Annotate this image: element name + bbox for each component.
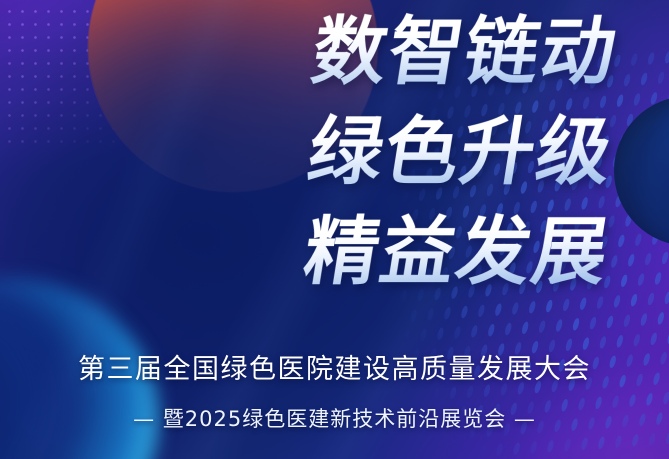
headline-line-3: 精益发展 (0, 202, 617, 302)
headline-line-2: 绿色升级 (0, 102, 621, 202)
headline-block: 数智链动 绿色升级 精益发展 (0, 2, 653, 302)
headline-line-1: 数智链动 (0, 2, 625, 102)
subtitle-block: 第三届全国绿色医院建设高质量发展大会 — 暨2025绿色医建新技术前沿展览会 — (0, 352, 669, 433)
conference-poster: 数智链动 绿色升级 精益发展 第三届全国绿色医院建设高质量发展大会 — 暨202… (0, 0, 669, 459)
exhibition-subtitle: — 暨2025绿色医建新技术前沿展览会 — (0, 405, 669, 433)
conference-title: 第三届全国绿色医院建设高质量发展大会 (0, 352, 669, 388)
